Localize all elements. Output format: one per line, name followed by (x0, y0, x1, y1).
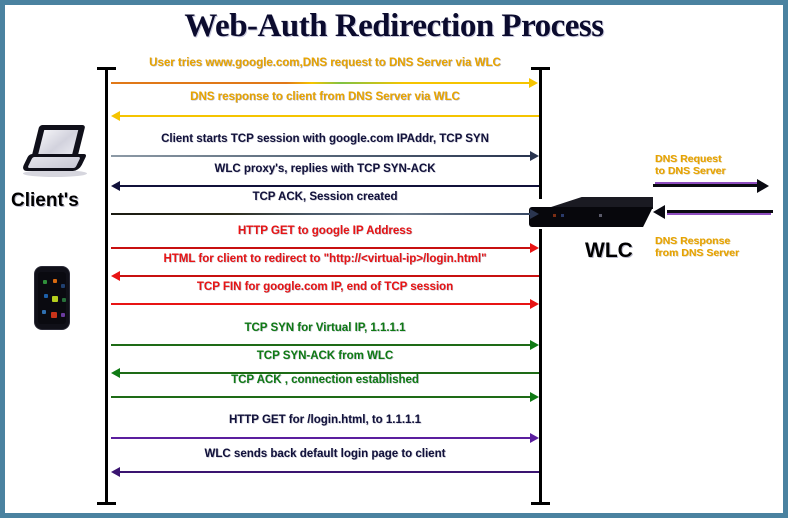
message-label: TCP ACK , connection established (111, 374, 539, 386)
wlc-lifeline-upper (539, 67, 542, 199)
message-arrow-shaft (120, 275, 539, 277)
message-arrow-head (530, 243, 539, 253)
diagram-canvas: Web-Auth Redirection Process Client's (0, 0, 788, 518)
message-arrow-head (530, 340, 539, 350)
wlc-lifeline-lower (539, 229, 542, 505)
message-label: WLC sends back default login page to cli… (111, 448, 539, 460)
message-label: TCP ACK, Session created (111, 191, 539, 203)
message-arrow-shaft (111, 155, 530, 157)
wlc-label: WLC (585, 239, 633, 263)
laptop-icon (21, 125, 89, 179)
message-label: HTTP GET to google IP Address (111, 225, 539, 237)
message-arrow-head (111, 111, 120, 121)
client-lifeline (105, 67, 108, 505)
message-arrow-head (530, 433, 539, 443)
smartphone-icon (35, 267, 69, 329)
message-label: User tries www.google.com,DNS request to… (111, 57, 539, 69)
message-arrow-shaft (111, 82, 529, 84)
wlc-appliance-icon (529, 197, 653, 229)
message-label: Client starts TCP session with google.co… (111, 133, 539, 145)
message-arrow-shaft (111, 396, 530, 398)
wlc-lifeline-cap-bottom (531, 502, 550, 505)
message-arrow-shaft (111, 247, 530, 249)
message-label: TCP FIN for google.com IP, end of TCP se… (111, 281, 539, 293)
dns-response-note-line2: from DNS Server (655, 247, 739, 259)
message-arrow-head (530, 392, 539, 402)
message-arrow-head (111, 181, 120, 191)
message-arrow-shaft (111, 437, 530, 439)
page-title: Web-Auth Redirection Process (5, 8, 783, 45)
message-arrow-head (530, 209, 539, 219)
dns-request-note-line1: DNS Request (655, 153, 726, 165)
message-arrow-head (111, 467, 120, 477)
message-arrow-shaft (120, 471, 539, 473)
message-arrow-head (529, 78, 538, 88)
message-arrow-shaft (120, 115, 539, 117)
message-arrow-head (530, 299, 539, 309)
message-label: DNS response to client from DNS Server v… (111, 91, 539, 103)
client-label: Client's (11, 190, 79, 212)
message-label: HTTP GET for /login.html, to 1.1.1.1 (111, 414, 539, 426)
message-label: WLC proxy's, replies with TCP SYN-ACK (111, 163, 539, 175)
message-arrow-shaft (111, 303, 530, 305)
message-label: TCP SYN-ACK from WLC (111, 350, 539, 362)
message-label: HTML for client to redirect to "http://<… (111, 253, 539, 265)
message-arrow-shaft (111, 344, 530, 346)
message-arrow-head (530, 151, 539, 161)
client-lifeline-cap-bottom (97, 502, 116, 505)
message-arrow-head (111, 271, 120, 281)
message-arrow-shaft (111, 213, 530, 215)
message-label: TCP SYN for Virtual IP, 1.1.1.1 (111, 322, 539, 334)
message-arrow-shaft (120, 185, 539, 187)
dns-response-note-line1: DNS Response (655, 235, 739, 247)
dns-request-note: DNS Request to DNS Server (655, 153, 726, 177)
dns-response-note: DNS Response from DNS Server (655, 235, 739, 259)
dns-request-note-line2: to DNS Server (655, 165, 726, 177)
